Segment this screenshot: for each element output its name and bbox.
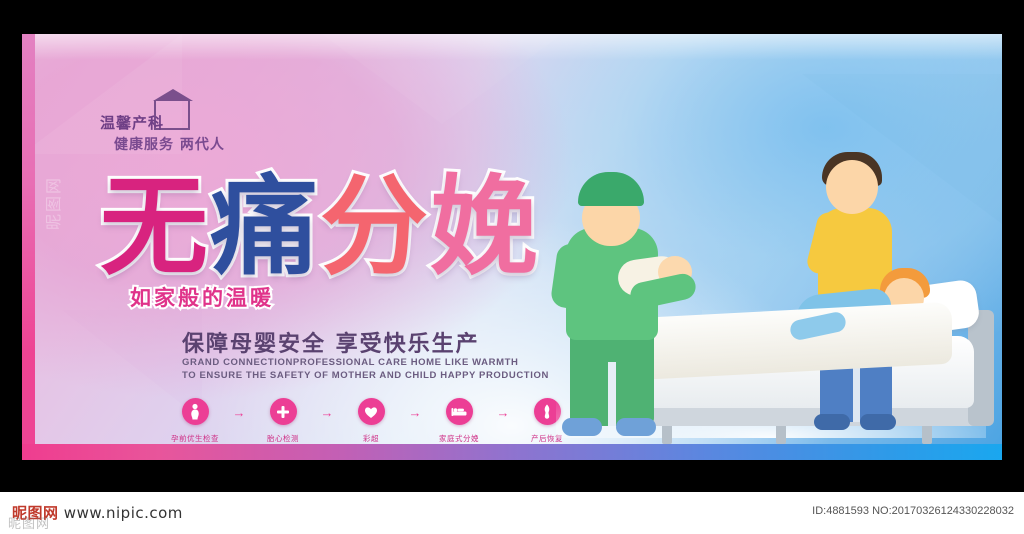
pregnant-woman-icon xyxy=(182,398,209,425)
doctor-surgical-cap xyxy=(578,172,644,206)
watermark-bottom-left: 昵图网 xyxy=(8,513,50,532)
step-label: 孕前优生检查 xyxy=(164,433,226,444)
image-id-text: ID:4881593 NO:20170326124330228032 xyxy=(812,505,1014,517)
slogan-english-line-1: GRAND CONNECTIONPROFESSIONAL CARE HOME L… xyxy=(182,357,518,368)
bed-leg xyxy=(662,424,672,444)
doctor-leg-gap xyxy=(608,362,616,426)
doctor-shoe xyxy=(616,418,656,436)
headline-char-1: 无 xyxy=(100,174,210,282)
left-pink-strip xyxy=(22,34,35,460)
step-arrow: → xyxy=(402,406,428,419)
headline-char-4: 娩 xyxy=(430,174,540,282)
step-arrow: → xyxy=(314,406,340,419)
step-label: 彩超 xyxy=(340,433,402,444)
step-label: 家庭式分娩 xyxy=(428,433,490,444)
heart-icon xyxy=(358,398,385,425)
slogan-chinese: 保障母婴安全 享受快乐生产 xyxy=(182,326,480,358)
poster-black-frame: 温馨产科 健康服务 两代人 无痛分娩 如家般的温暖 保障母婴安全 享受快乐生产 … xyxy=(0,0,1024,492)
top-light-haze xyxy=(22,34,1002,60)
father-shoe xyxy=(860,414,896,430)
father-shoe xyxy=(814,414,850,430)
step-arrow: → xyxy=(490,406,516,419)
service-step-flow: 孕前优生检查 → 胎心检测 → 彩超 xyxy=(164,398,578,444)
step-arrow: → xyxy=(226,406,252,419)
father-head xyxy=(826,160,878,214)
step-label: 胎心检测 xyxy=(252,433,314,444)
slogan-english-line-2: TO ENSURE THE SAFETY OF MOTHER AND CHILD… xyxy=(182,370,549,381)
step-item: 孕前优生检查 xyxy=(164,398,226,444)
plus-cross-icon xyxy=(270,398,297,425)
footer-bar: 昵图网 www.nipic.com ID:4881593 NO:20170326… xyxy=(0,492,1024,534)
step-item: 家庭式分娩 xyxy=(428,398,490,444)
logo-line-2: 健康服务 两代人 xyxy=(114,134,225,154)
family-delivery-illustration xyxy=(526,104,996,444)
headline-subtitle: 如家般的温暖 xyxy=(130,282,274,312)
logo-line-1: 温馨产科 xyxy=(100,112,164,133)
doctor-shoe xyxy=(562,418,602,436)
bed-icon xyxy=(446,398,473,425)
page-title: 无痛分娩 xyxy=(100,174,540,282)
bottom-gradient-strip xyxy=(22,444,1002,460)
bed-leg xyxy=(922,424,932,444)
clinic-logo: 温馨产科 健康服务 两代人 xyxy=(100,102,260,164)
poster-artwork: 温馨产科 健康服务 两代人 无痛分娩 如家般的温暖 保障母婴安全 享受快乐生产 … xyxy=(22,34,1002,460)
watermark-vertical: 昵图网 xyxy=(40,176,64,230)
bed-leg xyxy=(776,424,786,444)
step-item: 胎心检测 xyxy=(252,398,314,444)
brand-url: www.nipic.com xyxy=(64,504,183,522)
headline-char-2: 痛 xyxy=(210,174,320,282)
step-item: 彩超 xyxy=(340,398,402,444)
headline-char-3: 分 xyxy=(320,174,430,282)
